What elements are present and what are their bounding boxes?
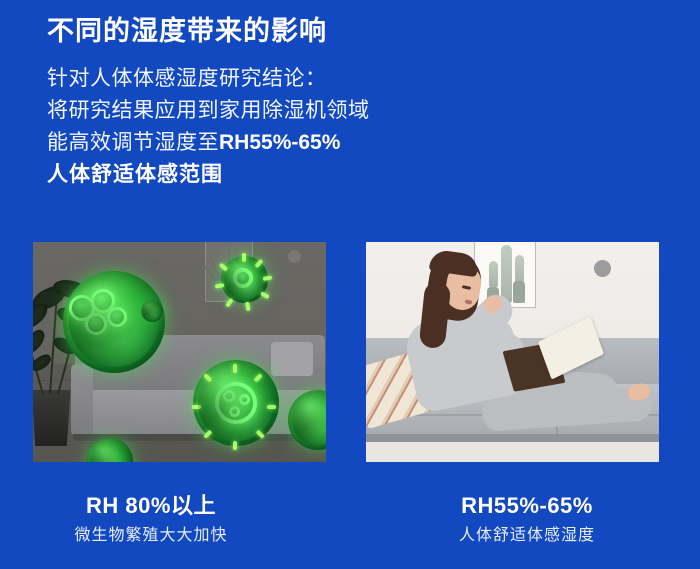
body-copy: 针对人体体感湿度研究结论： 将研究结果应用到家用除湿机领域 能高效调节湿度至RH… <box>47 63 667 191</box>
header-block: 不同的湿度带来的影响 针对人体体感湿度研究结论： 将研究结果应用到家用除湿机领域… <box>47 15 667 191</box>
humidity-infographic-page: { "theme": { "background": "#1249c0", "t… <box>0 0 700 569</box>
comparison-panels <box>0 242 700 462</box>
sofa-arm <box>71 364 93 436</box>
germ-top-right <box>221 256 268 303</box>
panel-comfort-humidity-image <box>366 242 659 462</box>
caption-high-humidity: RH 80%以上 微生物繁殖大大加快 <box>0 492 326 547</box>
germ-bottom-right <box>193 360 279 446</box>
page-title: 不同的湿度带来的影响 <box>47 15 667 49</box>
caption-high-humidity-title: RH 80%以上 <box>0 492 326 520</box>
bright-living-room-scene <box>366 242 659 462</box>
body-line-3-highlight: RH55%-65% <box>219 131 340 154</box>
sofa-cushion <box>271 342 313 376</box>
germ-large <box>63 271 165 373</box>
body-line-1: 针对人体体感湿度研究结论： <box>47 63 667 95</box>
wall-speaker-knob <box>594 260 611 277</box>
body-line-3-normal: 能高效调节湿度至 <box>47 131 219 154</box>
germ-small-mid <box>141 300 163 322</box>
caption-high-humidity-sub: 微生物繁殖大大加快 <box>0 525 326 547</box>
panel-high-humidity-image <box>33 242 326 462</box>
caption-comfort-humidity: RH55%-65% 人体舒适体感湿度 <box>352 492 700 547</box>
body-line-2: 将研究结果应用到家用除湿机领域 <box>47 95 667 127</box>
caption-comfort-humidity-sub: 人体舒适体感湿度 <box>352 525 700 547</box>
wall-knob <box>288 250 301 263</box>
body-line-3: 能高效调节湿度至RH55%-65% <box>47 127 667 159</box>
body-line-4: 人体舒适体感范围 <box>47 159 667 191</box>
dark-living-room-scene <box>33 242 326 462</box>
caption-comfort-humidity-title: RH55%-65% <box>352 492 700 520</box>
panel-captions: RH 80%以上 微生物繁殖大大加快 RH55%-65% 人体舒适体感湿度 <box>0 492 700 569</box>
germ-bottom-left <box>87 438 133 462</box>
